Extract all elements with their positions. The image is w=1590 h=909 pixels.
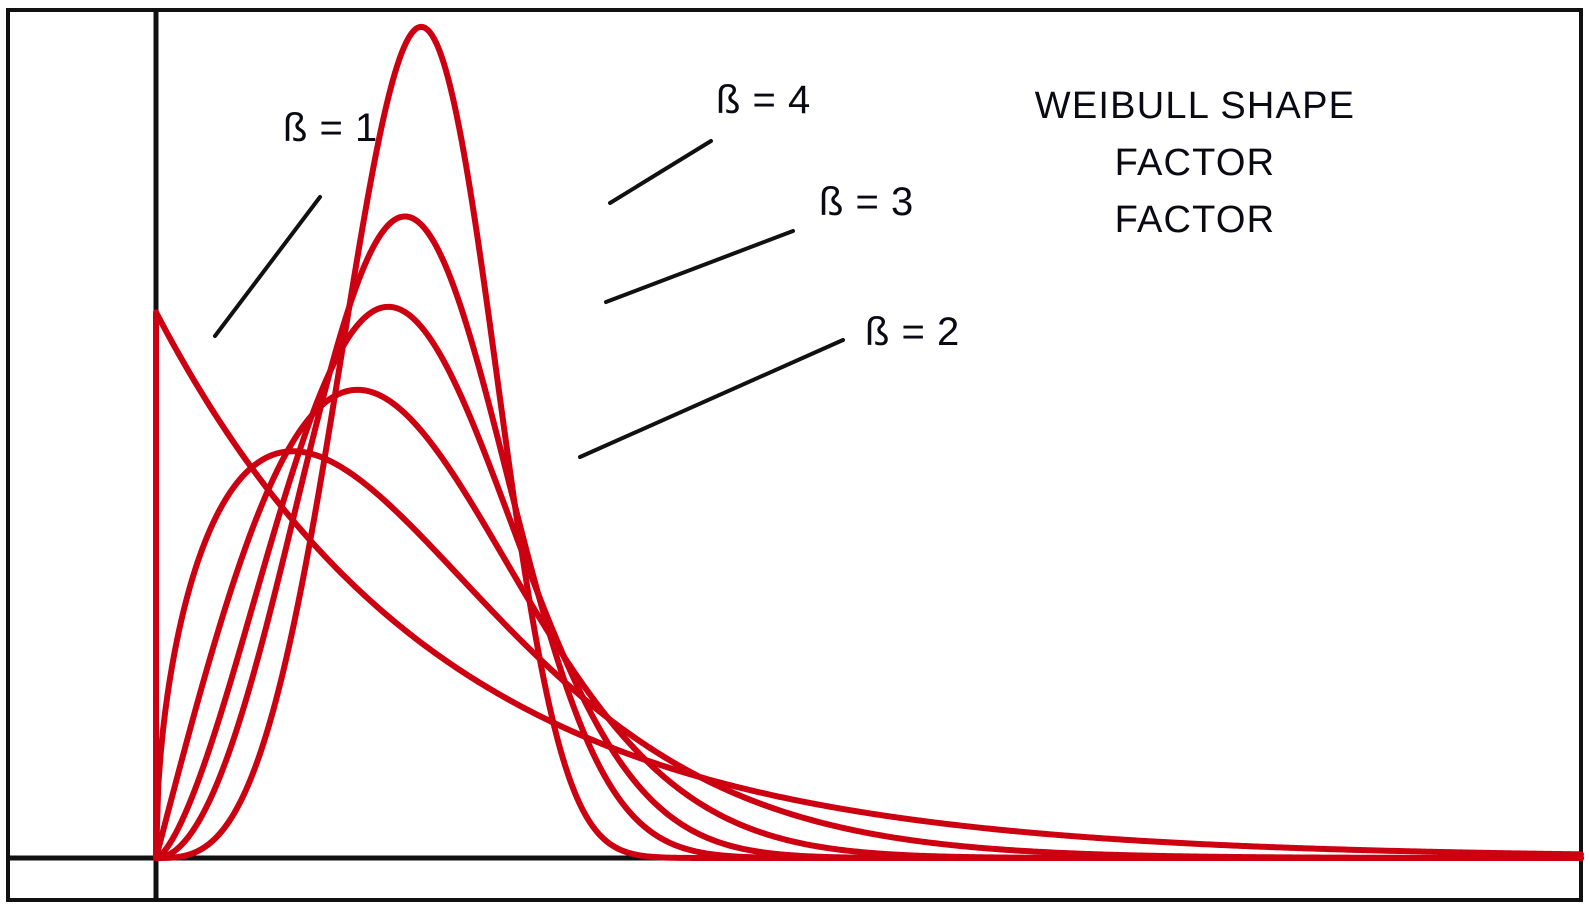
leader-line-2 — [606, 231, 793, 302]
annotation-label-1: ß = 4 — [716, 80, 811, 120]
chart-canvas: WEIBULL SHAPE FACTOR FACTOR ß = 1ß = 4ß … — [0, 0, 1590, 909]
annotation-label-3: ß = 2 — [865, 312, 960, 352]
chart-title-line-1: WEIBULL SHAPE FACTOR — [960, 78, 1430, 192]
leader-line-0 — [215, 197, 320, 336]
annotation-label-2: ß = 3 — [819, 182, 914, 222]
chart-title: WEIBULL SHAPE FACTOR FACTOR — [960, 78, 1430, 249]
leader-line-3 — [580, 340, 843, 457]
leader-line-group — [215, 141, 843, 457]
weibull-curve-beta-2 — [156, 390, 1581, 858]
weibull-curve-beta-1-5 — [156, 451, 1581, 858]
annotation-label-0: ß = 1 — [283, 108, 378, 148]
chart-title-line-2: FACTOR — [960, 192, 1430, 249]
leader-line-1 — [610, 141, 711, 203]
